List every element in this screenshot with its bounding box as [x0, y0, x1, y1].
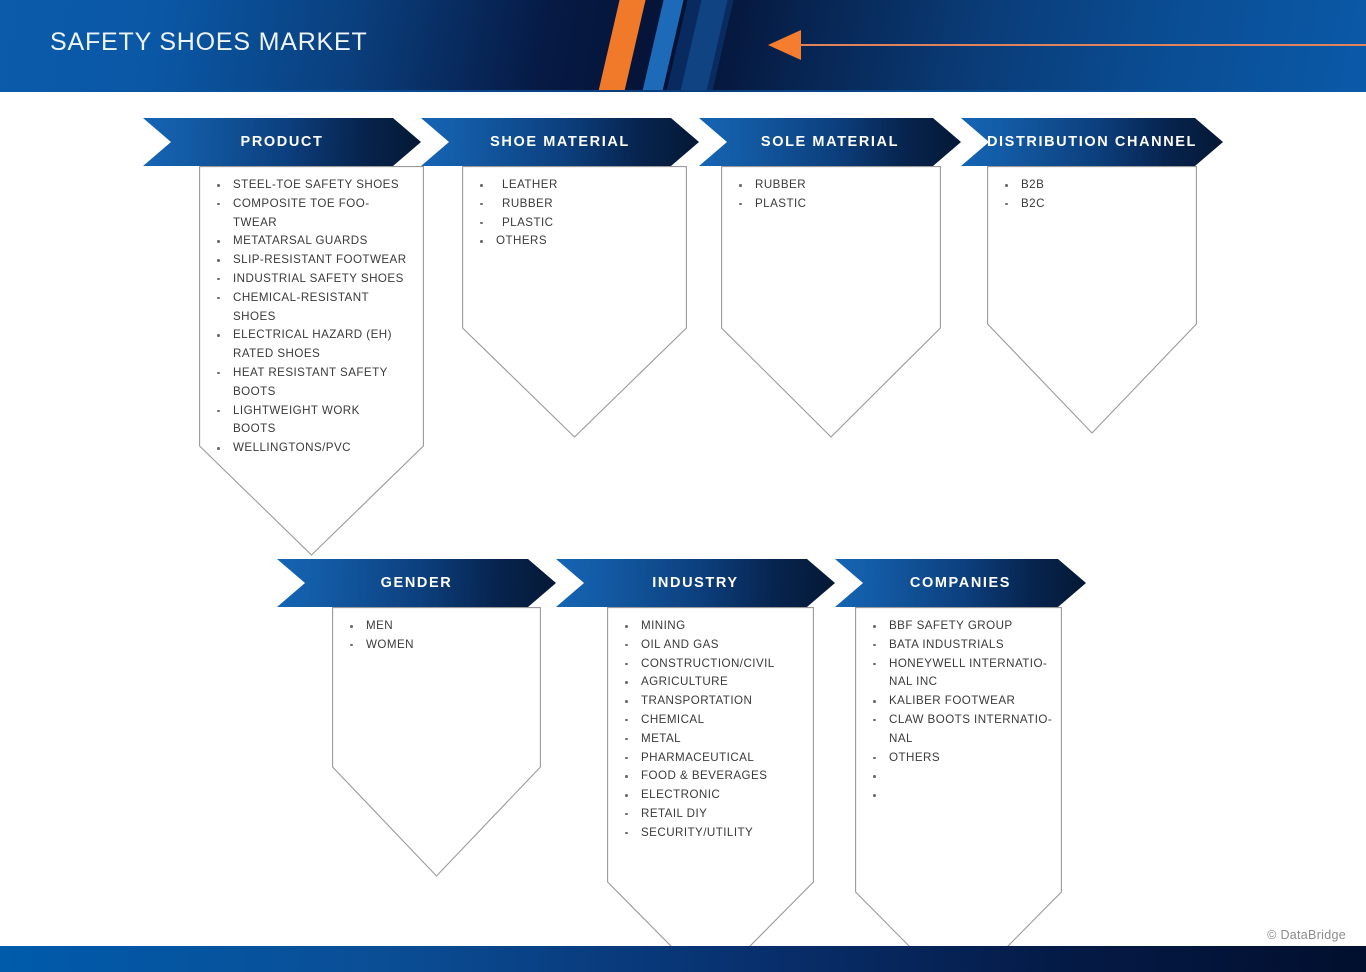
segment-card-shoe-material: LEATHERRUBBERPLASTICOTHERS [462, 166, 687, 438]
copyright-label: © DataBridge [1267, 928, 1346, 942]
list-item: BOOTS [199, 420, 424, 439]
list-item: KALIBER FOOTWEAR [855, 692, 1062, 711]
list-item [855, 786, 1062, 805]
list-item: OTHERS [855, 749, 1062, 768]
list-item: CHEMICAL-RESISTANT [199, 289, 424, 308]
list-item: RUBBER [462, 195, 687, 214]
list-item: SLIP-RESISTANT FOOTWEAR [199, 251, 424, 270]
list-item: PLASTIC [462, 214, 687, 233]
segment-card-gender: MENWOMEN [332, 607, 541, 877]
segment-title-product: PRODUCT [241, 134, 324, 150]
segment-title-distribution-channel: DISTRIBUTION CHANNEL [987, 134, 1197, 150]
list-item: TRANSPORTATION [607, 692, 814, 711]
segment-list-gender: MENWOMEN [332, 617, 541, 655]
segment-column-distribution-channel: DISTRIBUTION CHANNEL B2BB2C [961, 118, 1223, 434]
list-item: BATA INDUSTRIALS [855, 636, 1062, 655]
segment-banner-gender[interactable]: GENDER [277, 559, 556, 607]
segment-column-gender: GENDER MENWOMEN [277, 559, 556, 877]
list-item: PLASTIC [721, 195, 941, 214]
list-item: OTHERS [462, 232, 687, 251]
segment-banner-industry[interactable]: INDUSTRY [556, 559, 835, 607]
segment-list-companies: BBF SAFETY GROUPBATA INDUSTRIALSHONEYWEL… [855, 617, 1062, 805]
segment-title-industry: INDUSTRY [652, 575, 738, 591]
segment-list-industry: MININGOIL AND GASCONSTRUCTION/CIVILAGRIC… [607, 617, 814, 843]
segment-banner-product[interactable]: PRODUCT [143, 118, 421, 166]
segment-column-companies: COMPANIES BBF SAFETY GROUPBATA INDUSTRIA… [835, 559, 1086, 972]
list-item: RETAIL DIY [607, 805, 814, 824]
list-item [855, 767, 1062, 786]
segment-list-sole-material: RUBBERPLASTIC [721, 176, 941, 214]
segment-card-product: STEEL-TOE SAFETY SHOESCOMPOSITE TOE FOO-… [199, 166, 424, 556]
segment-card-industry: MININGOIL AND GASCONSTRUCTION/CIVILAGRIC… [607, 607, 814, 972]
list-item: ELECTRICAL HAZARD (EH) [199, 326, 424, 345]
list-item: PHARMACEUTICAL [607, 749, 814, 768]
list-item: TWEAR [199, 214, 424, 233]
segment-card-companies: BBF SAFETY GROUPBATA INDUSTRIALSHONEYWEL… [855, 607, 1062, 972]
segment-column-industry: INDUSTRY MININGOIL AND GASCONSTRUCTION/C… [556, 559, 835, 972]
list-item: INDUSTRIAL SAFETY SHOES [199, 270, 424, 289]
segment-banner-distribution-channel[interactable]: DISTRIBUTION CHANNEL [961, 118, 1223, 166]
list-item: SECURITY/UTILITY [607, 824, 814, 843]
segment-card-distribution-channel: B2BB2C [987, 166, 1197, 434]
list-item: STEEL-TOE SAFETY SHOES [199, 176, 424, 195]
segment-column-product: PRODUCT STEEL-TOE SAFETY SHOESCOMPOSITE … [143, 118, 421, 556]
footer-bar [0, 946, 1366, 972]
list-item: COMPOSITE TOE FOO- [199, 195, 424, 214]
segment-title-companies: COMPANIES [910, 575, 1011, 591]
list-item: BBF SAFETY GROUP [855, 617, 1062, 636]
list-item: ELECTRONIC [607, 786, 814, 805]
list-item: MEN [332, 617, 541, 636]
page-header: SAFETY SHOES MARKET [0, 0, 1366, 92]
list-item: BOOTS [199, 383, 424, 402]
segment-banner-sole-material[interactable]: SOLE MATERIAL [699, 118, 961, 166]
list-item: RATED SHOES [199, 345, 424, 364]
list-item: WOMEN [332, 636, 541, 655]
list-item: NAL [855, 730, 1062, 749]
segment-title-shoe-material: SHOE MATERIAL [490, 134, 630, 150]
list-item: NAL INC [855, 673, 1062, 692]
list-item: HONEYWELL INTERNATIO- [855, 655, 1062, 674]
segment-banner-shoe-material[interactable]: SHOE MATERIAL [421, 118, 699, 166]
list-item: CONSTRUCTION/CIVIL [607, 655, 814, 674]
segment-list-product: STEEL-TOE SAFETY SHOESCOMPOSITE TOE FOO-… [199, 176, 424, 458]
list-item: RUBBER [721, 176, 941, 195]
list-item: LIGHTWEIGHT WORK [199, 402, 424, 421]
list-item: HEAT RESISTANT SAFETY [199, 364, 424, 383]
list-item: SHOES [199, 308, 424, 327]
list-item: CHEMICAL [607, 711, 814, 730]
segment-column-shoe-material: SHOE MATERIAL LEATHERRUBBERPLASTICOTHERS [421, 118, 699, 438]
list-item: MINING [607, 617, 814, 636]
list-item: AGRICULTURE [607, 673, 814, 692]
list-item: OIL AND GAS [607, 636, 814, 655]
header-divider [0, 90, 1366, 92]
segment-title-gender: GENDER [381, 575, 453, 591]
list-item: WELLINGTONS/PVC [199, 439, 424, 458]
infographic-page: SAFETY SHOES MARKET PRODUCT STEEL-TOE SA… [0, 0, 1366, 972]
list-item: METAL [607, 730, 814, 749]
list-item: LEATHER [462, 176, 687, 195]
list-item: FOOD & BEVERAGES [607, 767, 814, 786]
segment-banner-companies[interactable]: COMPANIES [835, 559, 1086, 607]
segment-title-sole-material: SOLE MATERIAL [761, 134, 899, 150]
segment-column-sole-material: SOLE MATERIAL RUBBERPLASTIC [699, 118, 961, 438]
page-title: SAFETY SHOES MARKET [50, 28, 368, 57]
segment-card-sole-material: RUBBERPLASTIC [721, 166, 941, 438]
list-item: CLAW BOOTS INTERNATIO- [855, 711, 1062, 730]
list-item: B2B [987, 176, 1197, 195]
list-item: METATARSAL GUARDS [199, 232, 424, 251]
header-arrow-line [800, 44, 1366, 46]
left-arrow-icon [768, 30, 801, 60]
segment-list-distribution-channel: B2BB2C [987, 176, 1197, 214]
list-item: B2C [987, 195, 1197, 214]
segment-list-shoe-material: LEATHERRUBBERPLASTICOTHERS [462, 176, 687, 251]
